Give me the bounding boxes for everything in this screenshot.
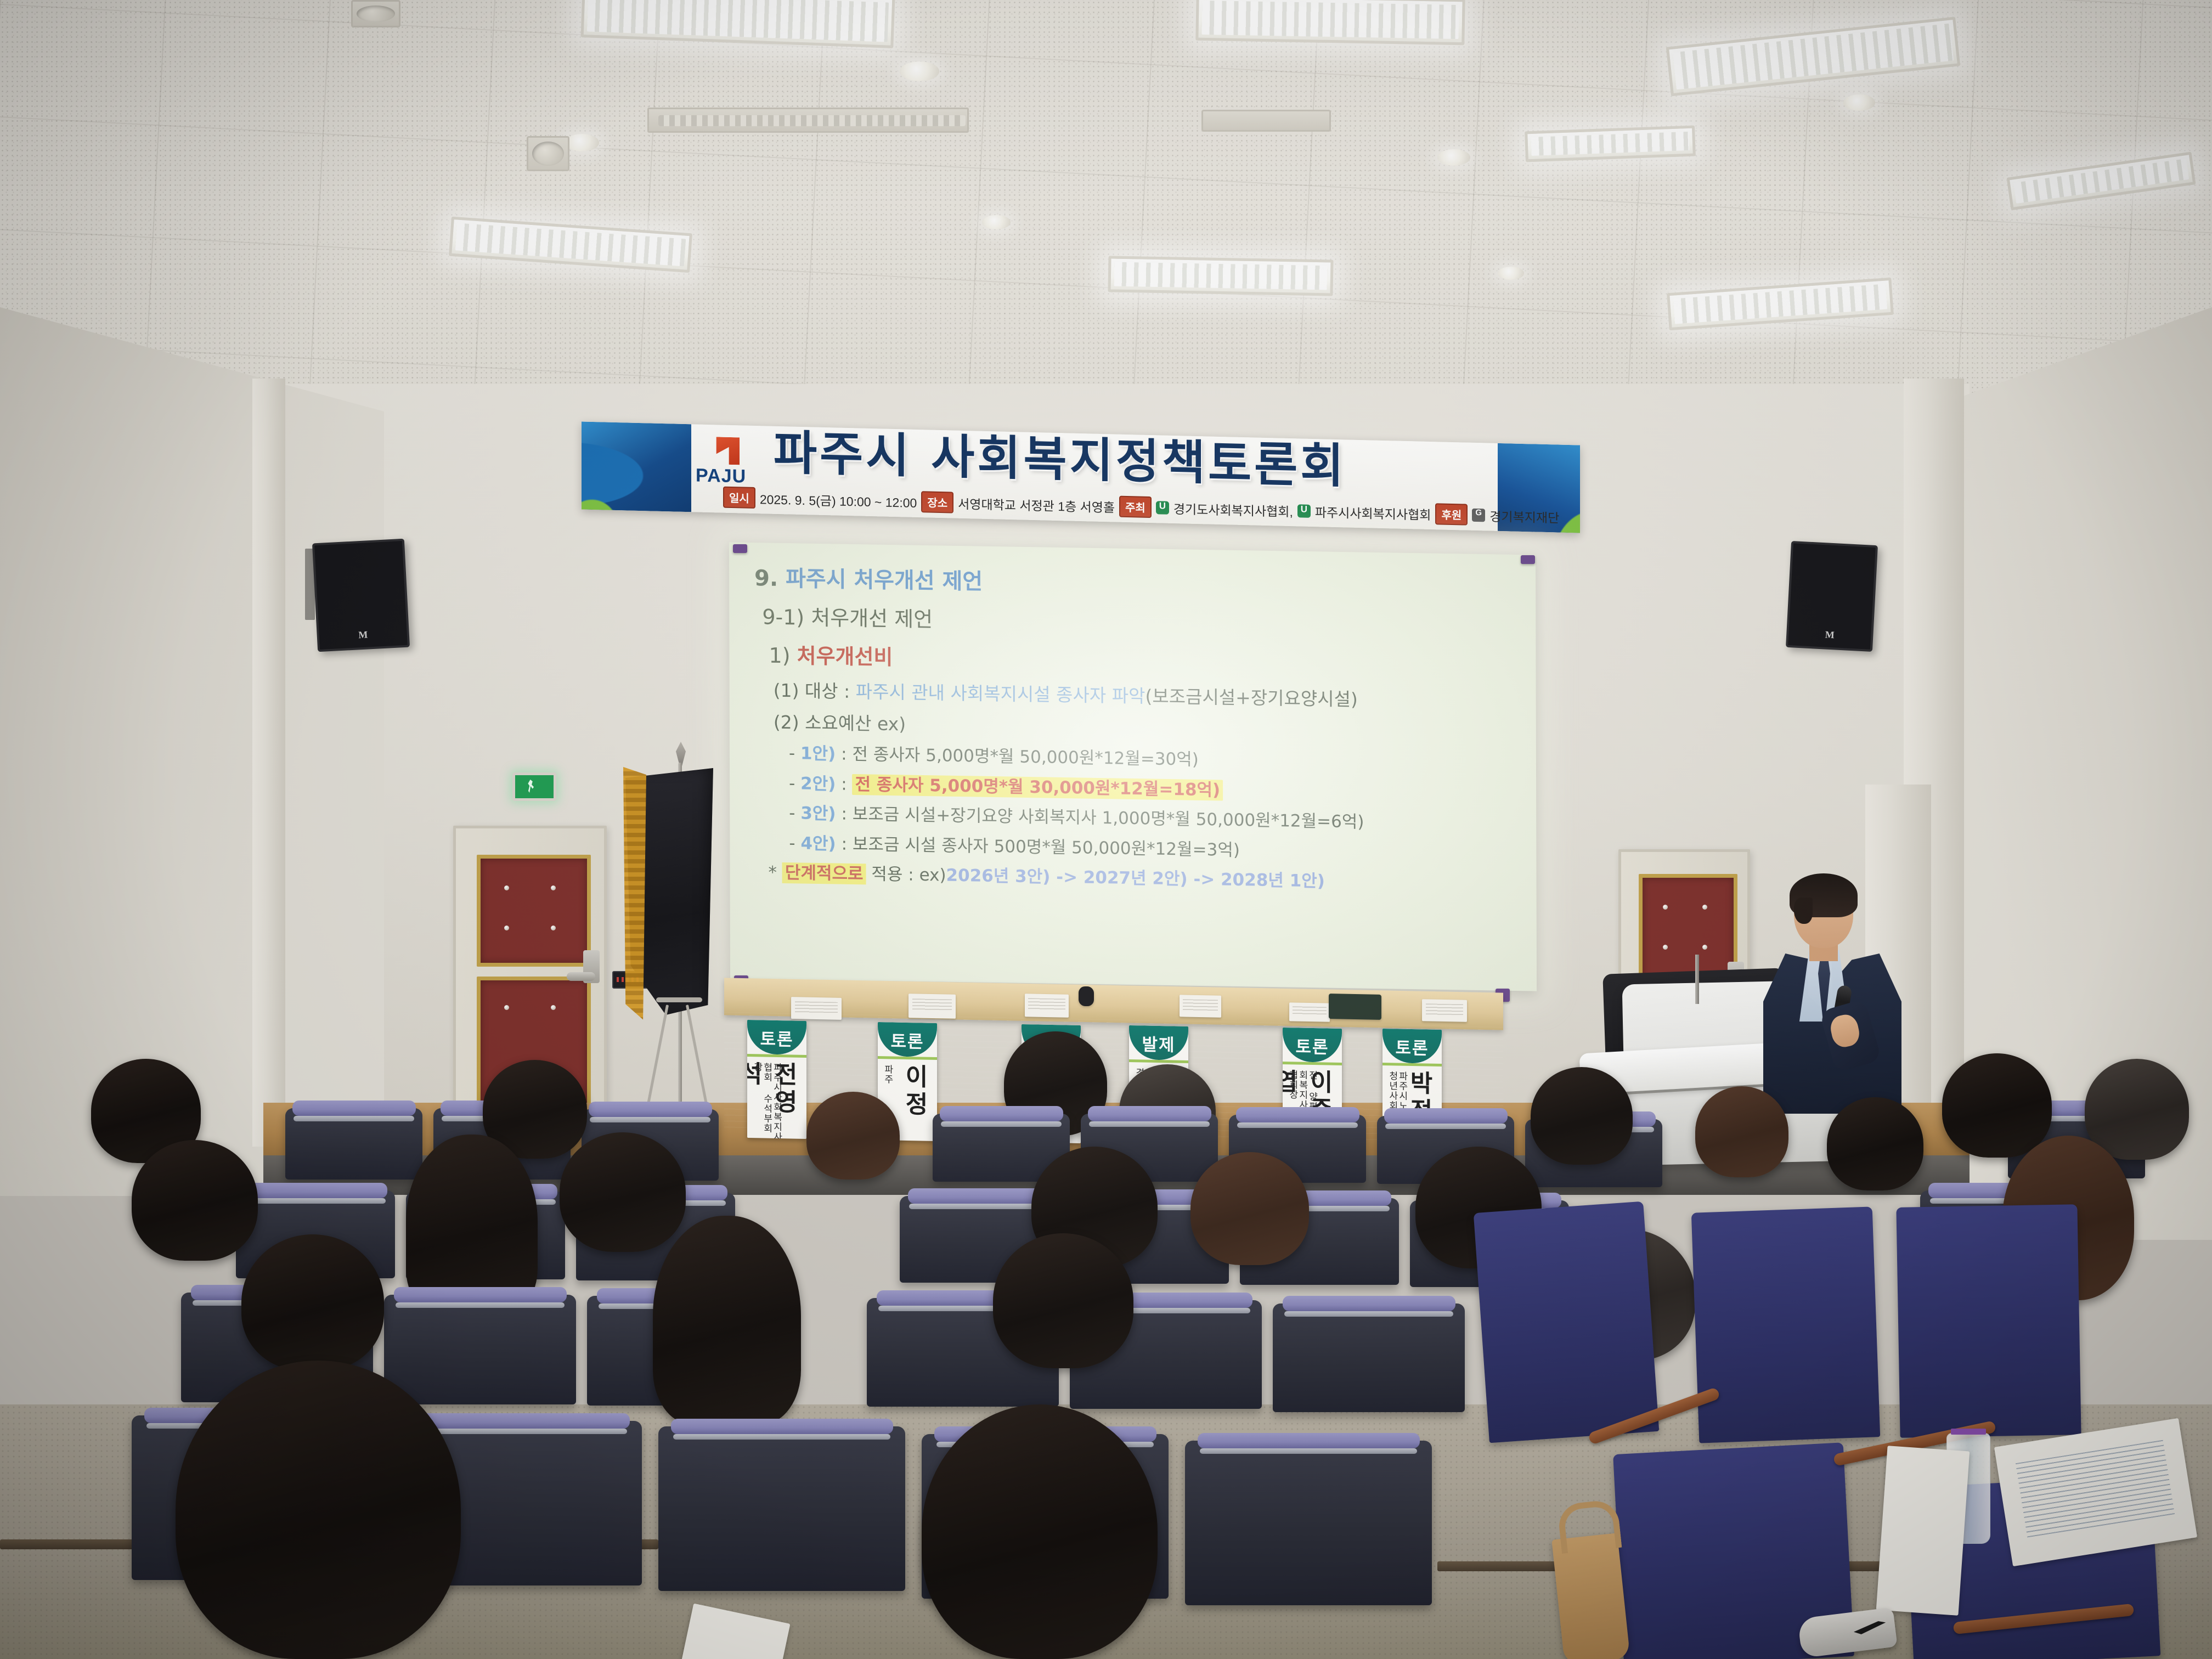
option-name: 1안)	[800, 744, 836, 764]
host-org-icon	[1297, 504, 1311, 518]
screen-clip-top-left	[733, 544, 747, 553]
option-dash: -	[789, 774, 795, 793]
slide-target-highlight: 파주시 관내 사회복지시설 종사자 파악	[856, 681, 1145, 707]
ceiling-light-fixture	[1525, 126, 1696, 162]
slide-option-row: - 4안) : 보조금 시설 종사자 500명*월 50,000원*12월=3억…	[789, 834, 1522, 864]
table-document	[1289, 1002, 1330, 1022]
banner-date-tag: 일시	[723, 487, 755, 509]
footnote-years: 2026년 3안) -> 2027년 2안) -> 2028년 1안)	[946, 866, 1324, 891]
option-name: 2안)	[800, 774, 836, 794]
door-stud	[504, 885, 509, 890]
tote-bag	[1551, 1533, 1630, 1659]
option-sep: :	[842, 834, 848, 854]
option-sep: :	[841, 744, 847, 764]
placard-role: 발제	[1142, 1030, 1175, 1056]
door-stud	[504, 1005, 509, 1010]
table-document	[791, 997, 842, 1020]
placard-role: 토론	[1295, 1032, 1329, 1058]
footnote-highlight: 단계적으로	[782, 862, 866, 884]
ceiling-air-vent	[658, 115, 966, 126]
banner-sponsor-tag: 후원	[1435, 503, 1468, 525]
door-stud	[551, 926, 556, 930]
option-sep: :	[841, 774, 847, 794]
banner-decoration-left	[582, 422, 691, 512]
option-name: 4안)	[800, 833, 836, 854]
option-dash: -	[789, 833, 795, 853]
slide-budget-label: (2) 소요예산 ex)	[774, 713, 1522, 744]
door-panel-upper	[1639, 874, 1737, 986]
slide-heading-number: 9.	[754, 566, 778, 591]
option-dash: -	[789, 743, 795, 763]
audience-head	[132, 1140, 258, 1261]
table-document	[1422, 999, 1467, 1022]
banner-date-value: 2025. 9. 5(금) 10:00 ~ 12:00	[760, 489, 917, 511]
ceiling-air-vent	[527, 136, 569, 171]
door-stud	[1702, 905, 1707, 910]
ceiling-air-vent	[351, 0, 400, 27]
recessed-downlight	[1843, 94, 1875, 111]
auditorium-seat-blue[interactable]	[1691, 1206, 1880, 1443]
placard-role-cap: 토론	[1383, 1029, 1442, 1064]
slide-subheading: 9-1) 처우개선 제언	[762, 606, 1521, 640]
banner-sponsor-value: 경기복지재단	[1489, 506, 1559, 526]
emergency-exit-sign	[512, 772, 556, 801]
door-stud	[551, 1005, 556, 1010]
screen-clip-top-right	[1521, 555, 1535, 564]
audience-head	[2085, 1059, 2189, 1160]
table-document	[1180, 995, 1221, 1017]
placard-body: 전영석 파주시사회복지사협회 수석부회장	[747, 1057, 806, 1139]
banner-place-tag: 장소	[921, 491, 953, 513]
option-body: 보조금 시설+장기요양 사회복지사 1,000명*월 50,000원*12월=6…	[853, 804, 1364, 832]
option-body: 전 종사자 5,000명*월 50,000원*12월=30억)	[852, 744, 1199, 770]
placard-role-cap: 토론	[1283, 1028, 1342, 1063]
auditorium-seat-blue[interactable]	[1474, 1201, 1660, 1443]
recessed-downlight	[565, 134, 599, 151]
lecture-hall-photo: PAJU 파주시 사회복지정책토론회 일시 2025. 9. 5(금) 10:0…	[0, 0, 2212, 1659]
audience-head	[653, 1216, 801, 1424]
door-stud	[551, 885, 556, 890]
auditorium-seat[interactable]	[384, 1295, 576, 1404]
host-org-icon	[1156, 501, 1169, 515]
slide-option-row: - 1안) : 전 종사자 5,000명*월 50,000원*12월=30억)	[789, 744, 1522, 774]
footnote-mid: 적용 : ex)	[871, 865, 946, 885]
sponsor-org-icon	[1472, 508, 1485, 522]
wall-speaker-left	[312, 539, 410, 652]
door-stud	[1663, 945, 1668, 950]
banner-title: 파주시 사회복지정책토론회	[774, 430, 1346, 490]
door-stud	[1702, 945, 1707, 950]
paju-logo-text: PAJU	[696, 465, 746, 487]
printed-handout	[1876, 1446, 1970, 1616]
audience-head	[1190, 1152, 1309, 1265]
presentation-slide: 9. 파주시 처우개선 제언 9-1) 처우개선 제언 1) 처우개선비 (1)…	[729, 542, 1537, 991]
wall-speaker-right	[1786, 541, 1878, 652]
left-wall	[0, 307, 384, 1196]
placard-name: 이정	[896, 1064, 932, 1119]
option-body: 전 종사자 5,000명*월 30,000원*12월=18억)	[853, 774, 1223, 801]
audience-head	[560, 1132, 686, 1252]
wall-pillar-left	[252, 379, 285, 1147]
auditorium-seat[interactable]	[1273, 1304, 1465, 1412]
audience-head-foreground	[922, 1404, 1158, 1659]
recessed-downlight	[1437, 149, 1470, 166]
ceiling-light-fixture	[1195, 0, 1465, 45]
audience-head	[1695, 1086, 1788, 1177]
ceiling-air-vent	[1201, 110, 1331, 132]
footnote-star: *	[768, 863, 777, 883]
option-name: 3안)	[800, 804, 836, 824]
slide-option-row-highlighted: - 2안) : 전 종사자 5,000명*월 30,000원*12월=18억)	[789, 775, 1522, 804]
door-stud	[1663, 905, 1668, 910]
table-tablet-device	[1329, 994, 1381, 1020]
slide-heading-text: 파주시 처우개선 제언	[786, 566, 983, 595]
paju-city-logo: PAJU	[696, 438, 761, 487]
option-dash: -	[789, 803, 795, 823]
placard-affiliation: 파주시사회복지사협회 수석부회장	[752, 1062, 781, 1139]
placard-role-cap: 발제	[1129, 1025, 1188, 1060]
door-handle[interactable]	[567, 972, 595, 981]
placard-discussant-1: 토론 전영석 파주시사회복지사협회 수석부회장	[747, 1020, 806, 1139]
banner-host-1: 경기도사회복지사협회,	[1173, 498, 1293, 520]
flag-gold-fringe	[623, 767, 646, 1025]
presenter-hair	[1790, 873, 1858, 917]
door-stud	[504, 926, 509, 930]
banner-host-tag: 주최	[1119, 496, 1152, 518]
audience-head-foreground	[176, 1361, 461, 1659]
auditorium-seat[interactable]	[1185, 1441, 1432, 1605]
door-panel-upper	[477, 855, 591, 967]
placard-role-cap: 토론	[747, 1020, 806, 1055]
placard-affiliation: 파주	[882, 1064, 892, 1084]
slide-option-row: - 3안) : 보조금 시설+장기요양 사회복지사 1,000명*월 50,00…	[789, 804, 1522, 834]
paju-logo-mark	[714, 437, 740, 465]
recessed-downlight	[900, 61, 939, 81]
option-body: 보조금 시설 종사자 500명*월 50,000원*12월=3억)	[853, 834, 1240, 860]
audience-head	[1942, 1053, 2052, 1158]
audience-head	[1531, 1067, 1633, 1165]
audience-head	[993, 1233, 1133, 1368]
mic-stand	[1695, 955, 1699, 1004]
banner-place-value: 서영대학교 서정관 1층 서영홀	[958, 493, 1115, 516]
auditorium-seat[interactable]	[658, 1426, 905, 1591]
option-sep: :	[841, 804, 847, 824]
placard-role: 토론	[1395, 1034, 1429, 1059]
slide-section-label: 처우개선비	[797, 644, 893, 669]
audience-head	[241, 1234, 384, 1370]
table-microphone-base	[1079, 986, 1094, 1007]
slide-footnote: * 단계적으로 적용 : ex)2026년 3안) -> 2027년 2안) -…	[768, 864, 1522, 894]
presenter	[1761, 878, 1904, 1114]
flag-stand-collar	[656, 997, 702, 1002]
recessed-downlight	[982, 215, 1011, 229]
slide-target-prefix: (1) 대상 :	[774, 679, 850, 702]
placard-role-cap: 토론	[878, 1022, 937, 1057]
table-document	[1025, 994, 1069, 1018]
placard-role: 토론	[890, 1027, 924, 1052]
slide-section: 1) 처우개선비	[769, 645, 1521, 678]
slide-section-number: 1)	[769, 643, 790, 668]
projection-screen: 9. 파주시 처우개선 제언 9-1) 처우개선 제언 1) 처우개선비 (1)…	[729, 542, 1537, 991]
audience-head	[1827, 1097, 1923, 1190]
slide-heading: 9. 파주시 처우개선 제언	[754, 567, 1521, 602]
table-document	[909, 994, 956, 1019]
auditorium-seat-blue[interactable]	[1896, 1204, 2081, 1438]
slide-target-line: (1) 대상 : 파주시 관내 사회복지시설 종사자 파악(보조금시설+장기요양…	[774, 681, 1522, 712]
slide-target-suffix: (보조금시설+장기요양시설)	[1145, 685, 1357, 710]
ceiling-light-fixture	[1108, 256, 1333, 296]
recessed-downlight	[1498, 267, 1524, 280]
banner-host-2: 파주시사회복지사협회	[1315, 502, 1431, 523]
auditorium-seat[interactable]	[285, 1108, 422, 1180]
placard-role: 토론	[760, 1025, 793, 1050]
audience-head	[806, 1092, 900, 1180]
